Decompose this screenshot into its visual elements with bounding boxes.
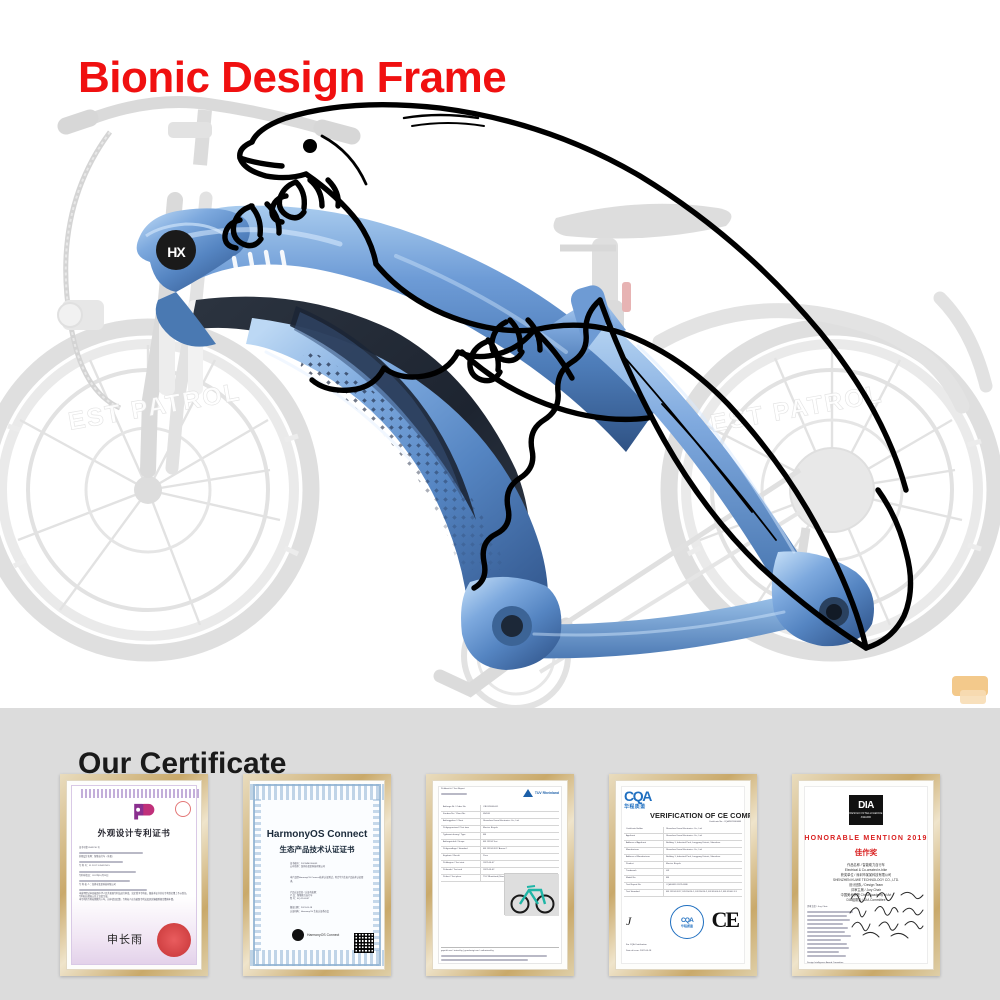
qr-code-icon: [354, 933, 374, 953]
award-title-cn: 佳作奖: [799, 847, 933, 858]
certificate-title: VERIFICATION OF CE COMPLIANCE: [650, 811, 751, 820]
certificate-cqa-ce-compliance[interactable]: CQA 华程质鉴 VERIFICATION OF CE COMPLIANCE C…: [609, 774, 757, 976]
table-row: Trademark HX: [624, 869, 742, 876]
table-row: Manufacturer Shenzhen Kuwe Electronics C…: [624, 848, 742, 855]
issue-date: Date of issue: 2022-04-18: [626, 950, 651, 953]
table-row: Auftragsinhalt / Scope EN 15194 Test: [441, 840, 559, 847]
certificate-list: 外观设计专利证书 证书号第 6543210 号 外观设计名称：智能自行车（车架）…: [60, 774, 940, 984]
page-title: Bionic Design Frame: [78, 53, 506, 103]
report-header: Prüfbericht / Test Report: [441, 788, 467, 797]
table-row: Address of Manufacturer Building 1, Indu…: [624, 855, 742, 862]
official-red-seal: [157, 923, 191, 957]
certificate-title: HarmonyOS Connect: [250, 829, 384, 840]
certificate-tuv-test-report[interactable]: Prüfbericht / Test Report TUV Rheinland …: [426, 774, 574, 976]
small-seal-icon: [175, 801, 191, 817]
ornament-side-right: [373, 799, 380, 951]
table-row: Certificate Holder Shenzhen Kuwe Electro…: [624, 827, 742, 834]
table-row: Auftraggeber / Client Shenzhen Kuwe Elec…: [441, 819, 559, 826]
harmonyos-mark-icon: [292, 929, 304, 941]
tuv-triangle-icon: [523, 789, 533, 797]
table-row: Product Electric Bicycle: [624, 862, 742, 869]
table-row: Ergebnis / Result Pass: [441, 854, 559, 861]
table-row: Prüfgrundlage / Standard EN 15194:2017 A…: [441, 847, 559, 854]
certificate-design-patent[interactable]: 外观设计专利证书 证书号第 6543210 号 外观设计名称：智能自行车（车架）…: [60, 774, 208, 976]
table-row: Kunden-Nr. / Client No. KH168: [441, 812, 559, 819]
certificate-body: 证书编号：2021HMOS0043 公司名称：深圳市某某科技有限公司 本产品经H…: [290, 863, 366, 914]
jury-signatures: [847, 885, 925, 941]
certificates-section: Our Certificate 外观设计专利证书 证书号第 6543210 号: [0, 708, 1000, 1000]
bionic-frame-illustration: EST PATROL EST PATROL: [0, 0, 1000, 708]
certificate-subtitle: 生态产品技术认证证书: [250, 844, 384, 855]
patent-logo-icon: [129, 801, 155, 821]
brand-badge: HX: [156, 230, 196, 270]
harmonyos-logo: HarmonyOS Connect: [292, 929, 339, 941]
certificate-title: 外观设计专利证书: [67, 827, 201, 839]
award-title: HONORABLE MENTION 2019: [799, 835, 933, 842]
product-marketing-page: Bionic Design Frame: [0, 0, 1000, 1000]
cqa-round-seal: CQA 华程质鉴: [670, 905, 704, 939]
table-row: Prüfbeginn / Test start 2022-04-07: [441, 861, 559, 868]
cqa-logo: CQA: [624, 788, 651, 804]
award-footer: Design Intelligence Award Committee: [807, 962, 843, 965]
cqa-logo-cn: 华程质鉴: [624, 803, 646, 810]
certificate-dia-award[interactable]: DIA DESIGN INTELLIGENCE AWARD HONORABLE …: [792, 774, 940, 976]
tuv-rheinland-logo: TUV Rheinland: [523, 789, 559, 797]
report-table: Auftrags-Nr. / Order No. CBC02408-001 Ku…: [441, 805, 559, 882]
svg-text:HX: HX: [167, 244, 186, 260]
certificate-body: 证书号第 6543210 号 外观设计名称：智能自行车（车架） 专 利 号：ZL…: [79, 847, 189, 903]
signature-label: For CQA Certification: [626, 944, 647, 947]
table-row: Auftrags-Nr. / Order No. CBC02408-001: [441, 805, 559, 812]
signature: J: [626, 914, 631, 929]
ornament-side-left: [254, 799, 261, 951]
table-row: Test Standard EN 15194:2017, EN 55014-1,…: [624, 890, 742, 897]
table-row: Applicant Shenzhen Kuwe Electronics Co.,…: [624, 834, 742, 841]
certificate-number: Certificate No.: CQA2022040086: [709, 821, 741, 824]
report-footer: geprüft von / tested by | genehmigt von …: [441, 947, 559, 963]
table-row: Typbezeichnung / Type EB: [441, 833, 559, 840]
dia-logo: DIA DESIGN INTELLIGENCE AWARD: [849, 795, 883, 825]
hero-section: Bionic Design Frame: [0, 0, 1000, 708]
compliance-table: Certificate Holder Shenzhen Kuwe Electro…: [624, 827, 742, 897]
table-row: Prüfgegenstand / Test item Electric Bicy…: [441, 826, 559, 833]
signature: 申长雨: [107, 931, 143, 947]
ce-mark-icon: CE: [711, 907, 738, 933]
table-row: Model No. EB: [624, 876, 742, 883]
certificate-harmonyos-connect[interactable]: HarmonyOS Connect 生态产品技术认证证书 证书编号：2021HM…: [243, 774, 391, 976]
product-photo: [504, 873, 558, 915]
ornament-band: [81, 789, 199, 798]
ornament-band-top: [250, 784, 384, 800]
table-row: Address of Applicant Building 1, Industr…: [624, 841, 742, 848]
table-row: Test Report No. CQA-EMC-2022-0086: [624, 883, 742, 890]
